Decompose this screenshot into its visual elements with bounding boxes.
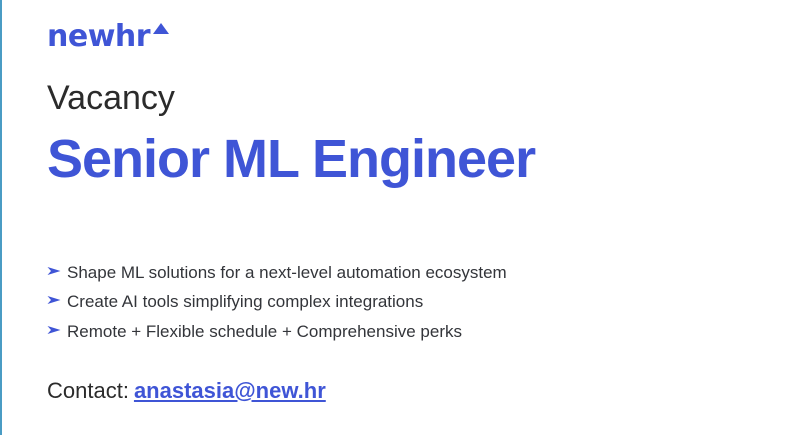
list-item: Shape ML solutions for a next-level auto… xyxy=(47,262,707,283)
contact-email-link[interactable]: anastasia@new.hr xyxy=(134,378,326,403)
triangle-up-icon xyxy=(153,23,169,34)
arrow-right-icon xyxy=(47,294,67,306)
list-item-label: Create AI tools simplifying complex inte… xyxy=(67,291,423,312)
left-accent-stripe xyxy=(0,0,2,435)
list-item: Remote + Flexible schedule + Comprehensi… xyxy=(47,321,707,342)
brand-logo-text: newhr xyxy=(47,22,150,52)
benefits-list: Shape ML solutions for a next-level auto… xyxy=(47,262,707,350)
list-item: Create AI tools simplifying complex inte… xyxy=(47,291,707,312)
list-item-label: Remote + Flexible schedule + Comprehensi… xyxy=(67,321,462,342)
eyebrow-label: Vacancy xyxy=(47,80,175,117)
page-title: Senior ML Engineer xyxy=(47,128,535,190)
contact-line: Contact:anastasia@new.hr xyxy=(47,378,326,404)
vacancy-poster: newhr Vacancy Senior ML Engineer Shape M… xyxy=(0,0,800,435)
poster-content: newhr Vacancy Senior ML Engineer Shape M… xyxy=(47,0,747,435)
list-item-label: Shape ML solutions for a next-level auto… xyxy=(67,262,507,283)
arrow-right-icon xyxy=(47,265,67,277)
brand-logo[interactable]: newhr xyxy=(47,22,169,52)
contact-label: Contact: xyxy=(47,378,129,403)
arrow-right-icon xyxy=(47,324,67,336)
